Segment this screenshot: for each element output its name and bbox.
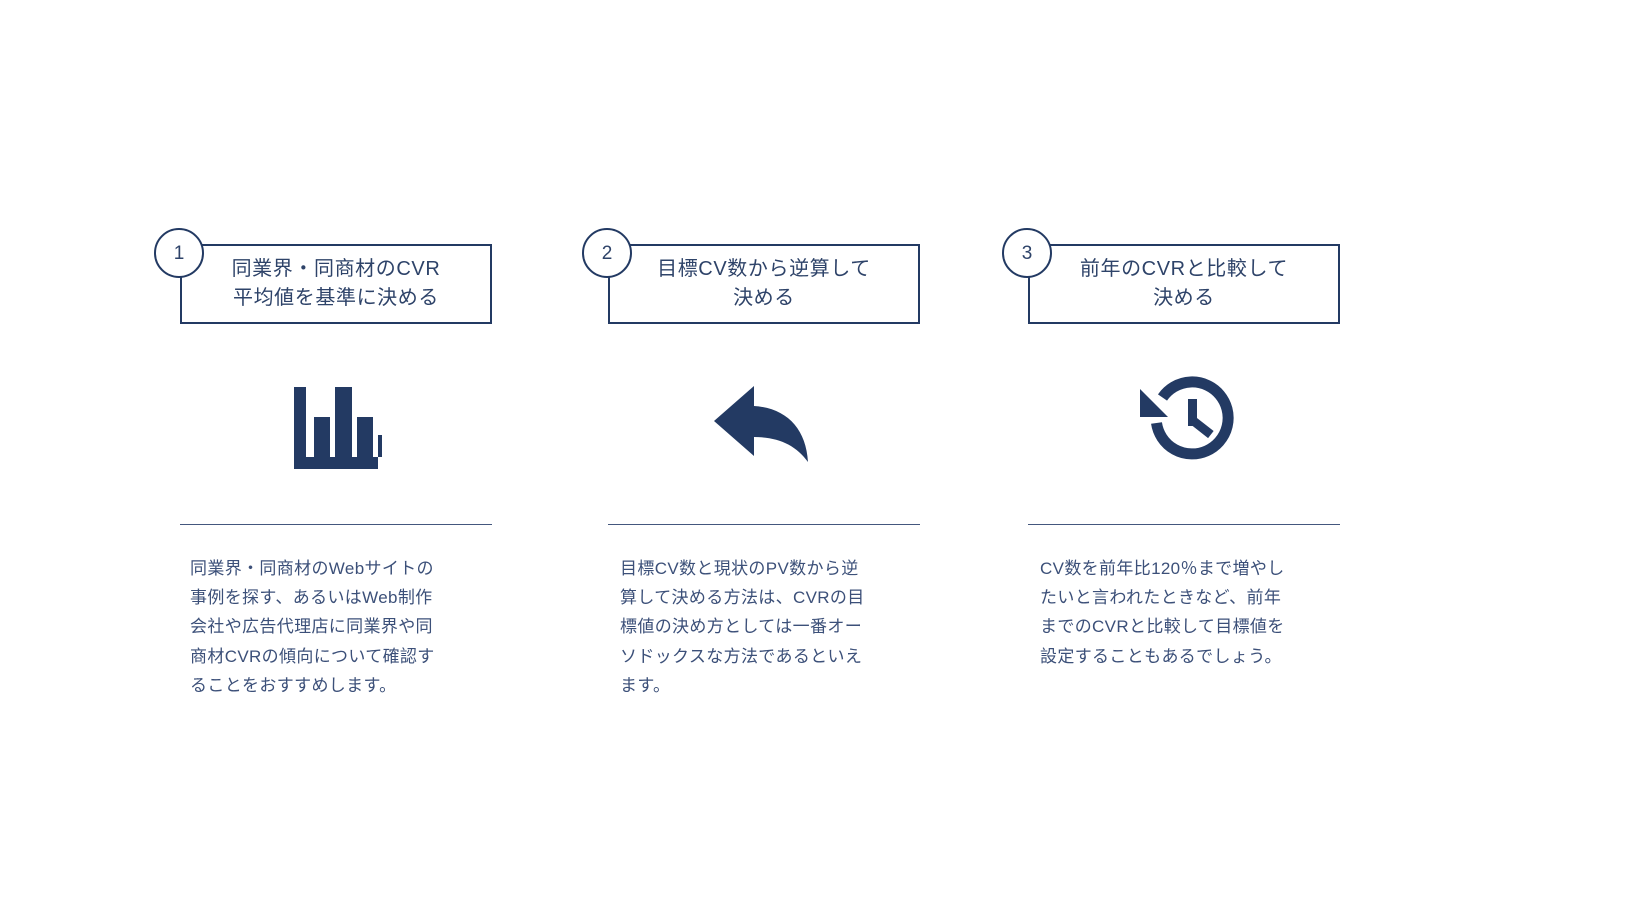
card-1: 同業界・同商材のCVR 平均値を基準に決める 1 (180, 228, 492, 324)
card-3-title-box: 前年のCVRと比較して 決める (1028, 244, 1340, 324)
card-3-body: CV数を前年比120％まで増やし たいと言われたときなど、前年 までのCVRと比… (1040, 554, 1340, 671)
card-2: 目標CV数から逆算して 決める 2 目標CV数と現状のPV数から逆 算して決める… (608, 228, 920, 324)
card-2-divider (608, 524, 920, 525)
card-1-title-box: 同業界・同商材のCVR 平均値を基準に決める (180, 244, 492, 324)
card-3-divider (1028, 524, 1340, 525)
reply-arrow-icon (712, 382, 816, 464)
card-1-title: 同業界・同商材のCVR 平均値を基準に決める (226, 255, 447, 313)
card-3-icon-area (1028, 368, 1340, 478)
card-2-number: 2 (602, 244, 613, 263)
card-1-number-badge: 1 (154, 228, 204, 278)
card-1-icon-area (180, 368, 492, 478)
card-1-number: 1 (174, 244, 185, 263)
card-2-title-box: 目標CV数から逆算して 決める (608, 244, 920, 324)
card-3-number: 3 (1022, 244, 1033, 263)
card-2-title: 目標CV数から逆算して 決める (651, 255, 877, 313)
history-clock-icon (1132, 375, 1236, 471)
card-1-body: 同業界・同商材のWebサイトの 事例を探す、あるいはWeb制作 会社や広告代理店… (190, 554, 490, 700)
card-3: 前年のCVRと比較して 決める 3 (1028, 228, 1340, 324)
card-2-body: 目標CV数と現状のPV数から逆 算して決める方法は、CVRの目 標値の決め方とし… (620, 554, 920, 700)
card-3-number-badge: 3 (1002, 228, 1052, 278)
card-2-icon-area (608, 368, 920, 478)
card-2-header: 目標CV数から逆算して 決める 2 (608, 228, 920, 324)
infographic-canvas: 同業界・同商材のCVR 平均値を基準に決める 1 (0, 0, 1644, 918)
card-3-title: 前年のCVRと比較して 決める (1074, 255, 1294, 313)
bar-chart-icon (290, 373, 382, 473)
card-3-header: 前年のCVRと比較して 決める 3 (1028, 228, 1340, 324)
card-2-number-badge: 2 (582, 228, 632, 278)
card-group: 同業界・同商材のCVR 平均値を基準に決める 1 (0, 0, 1644, 918)
card-1-header: 同業界・同商材のCVR 平均値を基準に決める 1 (180, 228, 492, 324)
card-1-divider (180, 524, 492, 525)
